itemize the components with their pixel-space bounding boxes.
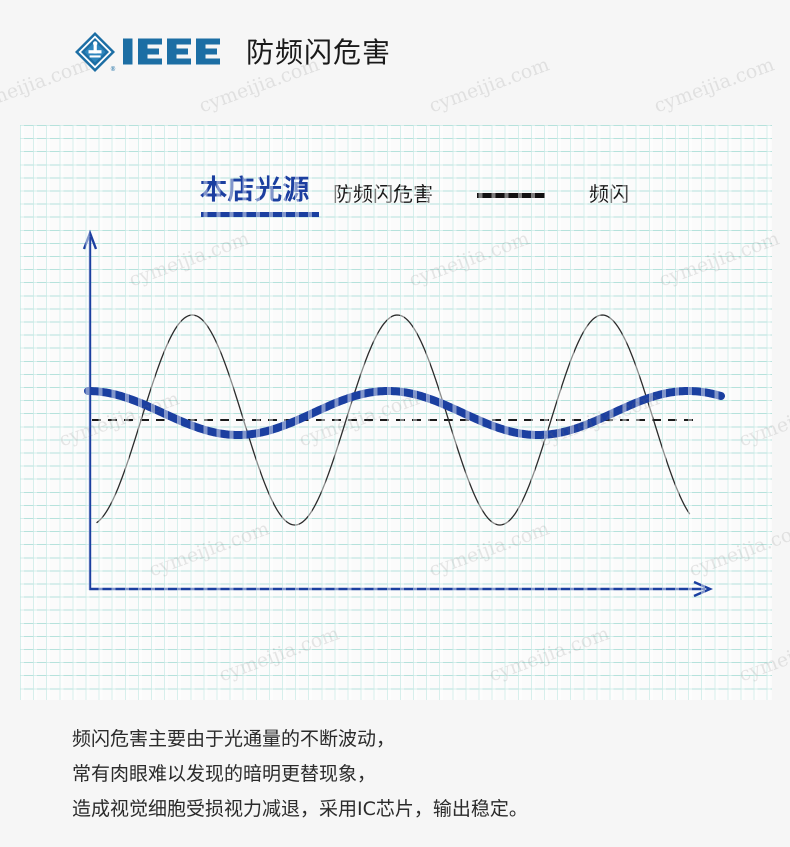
series-line-mine [88, 391, 721, 435]
description-line: 常有肉眼难以发现的暗明更替现象， [72, 757, 762, 792]
page-header: ® 防频闪危害 [0, 0, 790, 115]
flicker-chart [20, 125, 772, 700]
ieee-diamond-logo-icon: ® [74, 31, 229, 73]
y-axis [84, 233, 96, 590]
description-block: 频闪危害主要由于光通量的不断波动， 常有肉眼难以发现的暗明更替现象， 造成视觉细… [72, 722, 762, 827]
svg-text:®: ® [110, 66, 116, 73]
ieee-logo: ® [74, 31, 229, 73]
description-line: 造成视觉细胞受损视力减退，采用IC芯片，输出稳定。 [72, 792, 762, 827]
graph-paper-panel: 本店光源 防频闪危害 频闪 时间 频闪示意图 [20, 125, 772, 700]
x-axis [89, 582, 710, 596]
description-line: 频闪危害主要由于光通量的不断波动， [72, 722, 762, 757]
page-title: 防频闪危害 [246, 32, 391, 74]
